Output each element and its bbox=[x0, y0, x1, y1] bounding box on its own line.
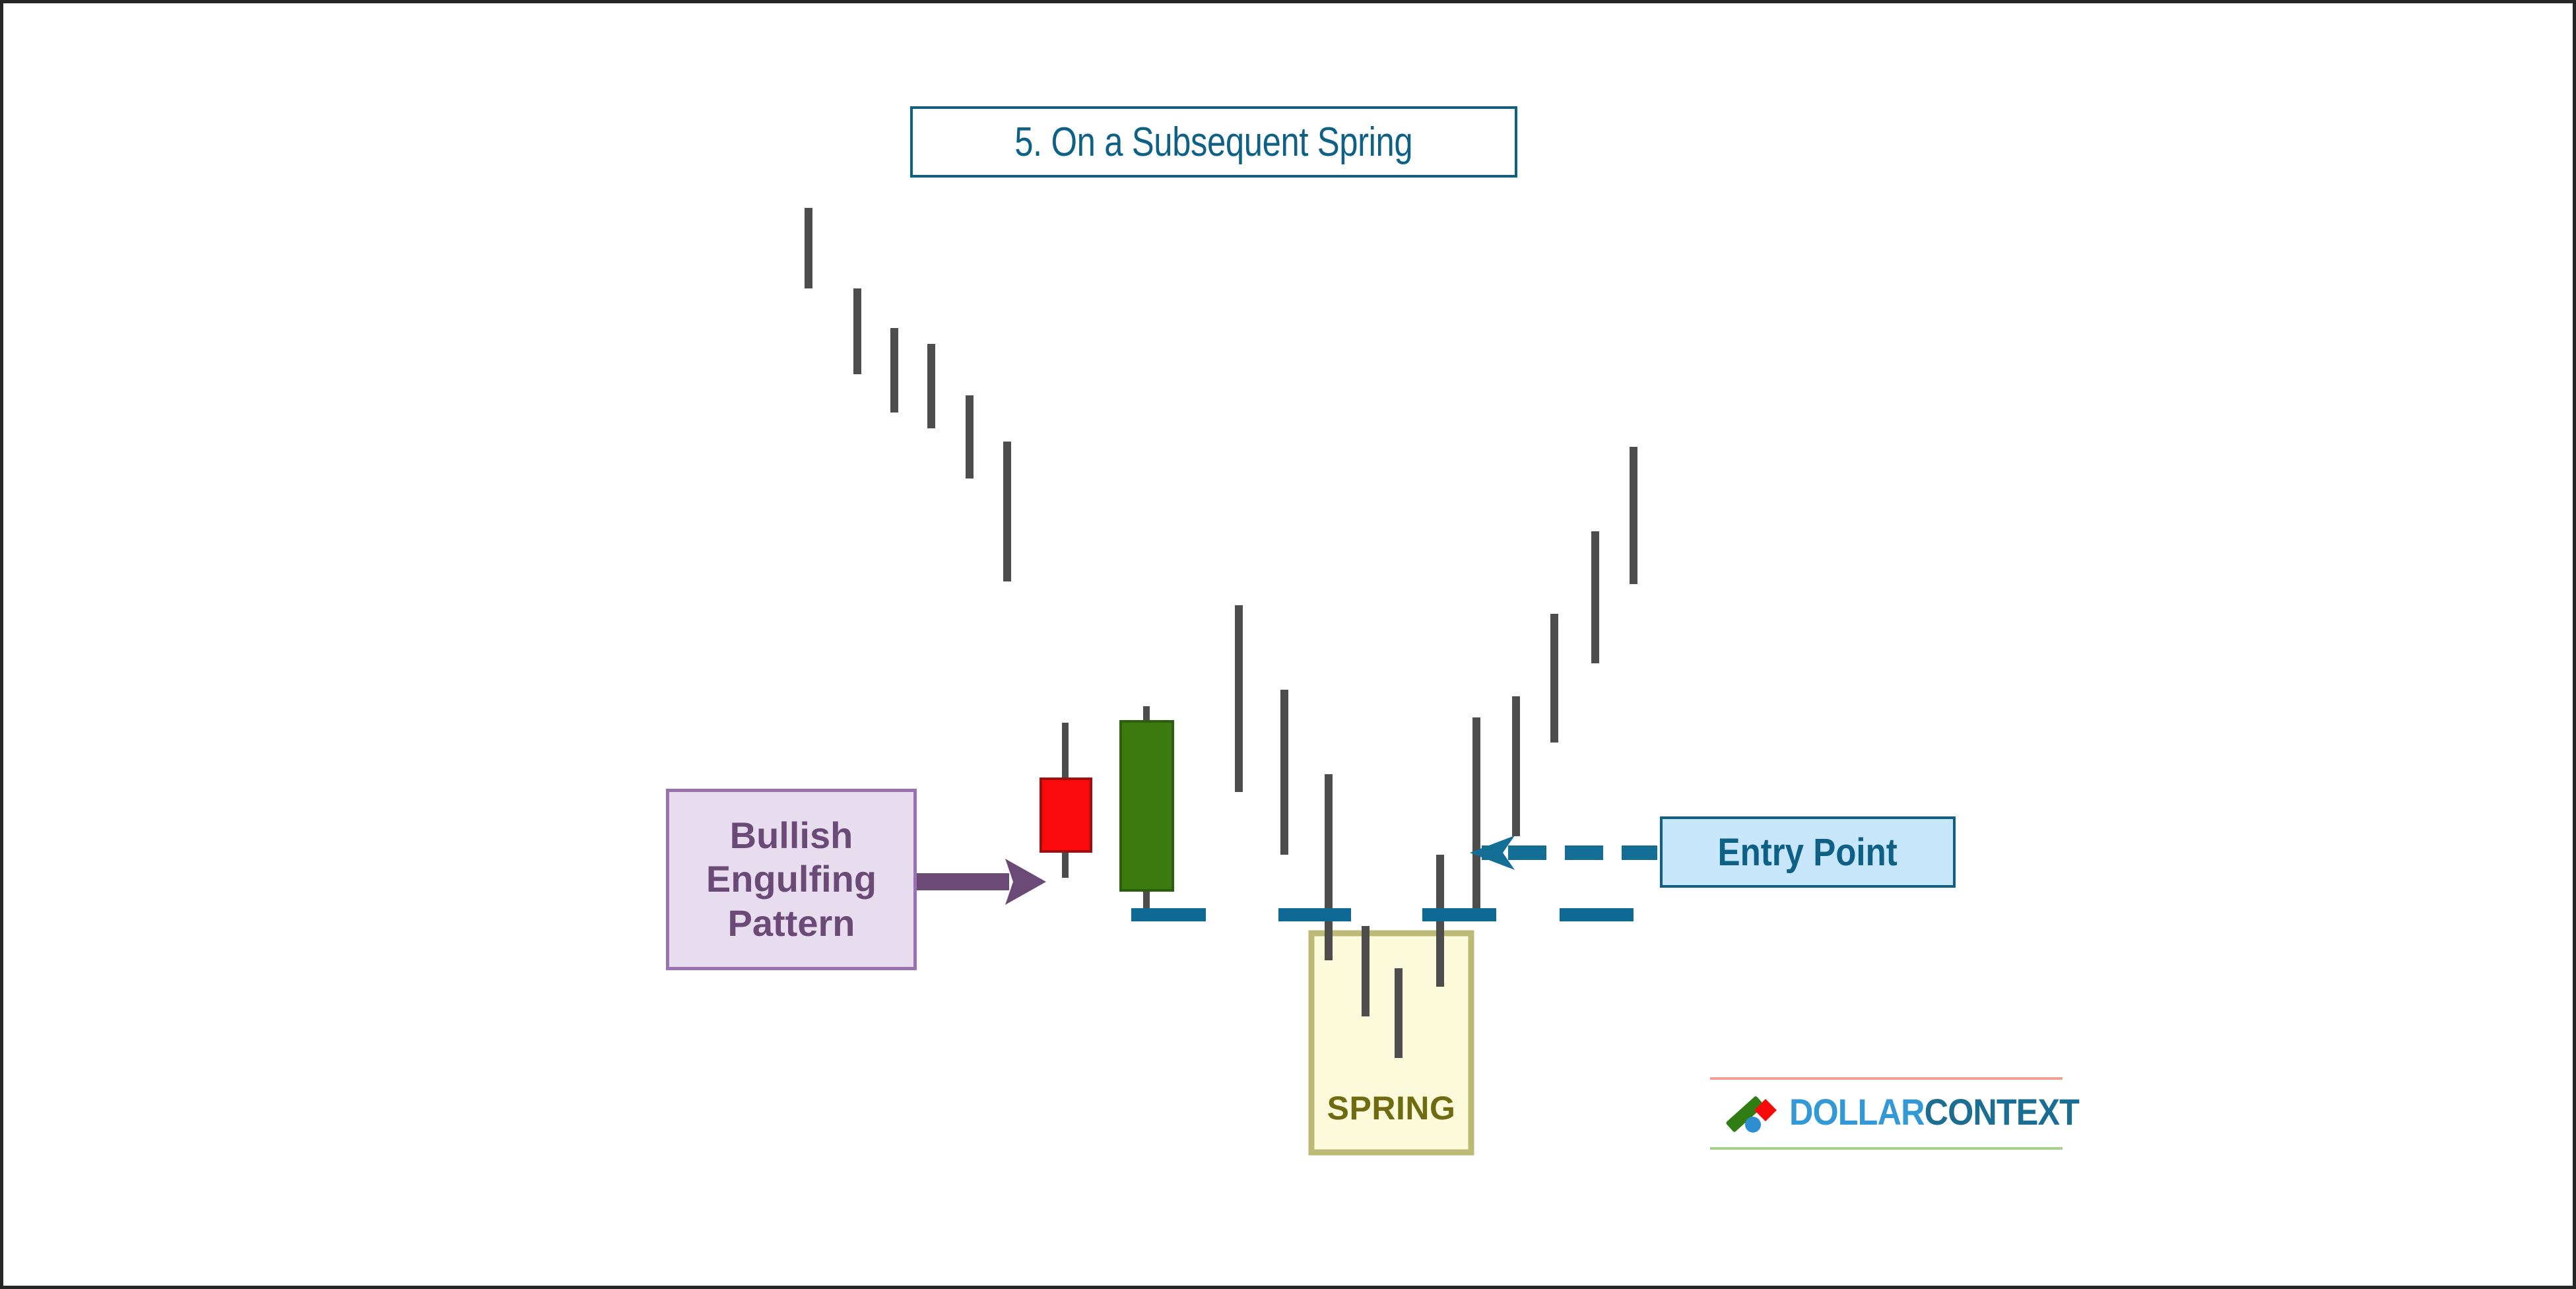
price-bar bbox=[1362, 926, 1370, 1016]
price-bar bbox=[1512, 696, 1520, 836]
support-segment bbox=[1278, 908, 1351, 921]
arrow-dash bbox=[1565, 845, 1603, 860]
arrow-dash bbox=[1622, 845, 1657, 860]
logo-word-dollar: DOLLAR bbox=[1789, 1091, 1925, 1133]
logo-word-context: CONTEXT bbox=[1925, 1091, 2080, 1133]
price-bar-entry bbox=[1472, 717, 1480, 915]
price-bar bbox=[1325, 774, 1333, 960]
bullish-engulfing-label-box: Bullish Engulfing Pattern bbox=[666, 789, 917, 970]
bullish-line-3: Pattern bbox=[706, 902, 876, 945]
price-bar bbox=[1550, 614, 1558, 743]
logo-rule-bottom bbox=[1710, 1147, 2063, 1150]
entry-point-label: Entry Point bbox=[1718, 830, 1898, 875]
support-segment bbox=[1422, 908, 1496, 921]
chart-title-box: 5. On a Subsequent Spring bbox=[910, 106, 1517, 178]
price-bar bbox=[1280, 690, 1288, 855]
logo-wordmark: DOLLARCONTEXT bbox=[1789, 1090, 2079, 1133]
spring-zone-label: SPRING bbox=[1322, 1089, 1461, 1127]
price-bar bbox=[805, 208, 812, 288]
chart-canvas: 5. On a Subsequent Spring Bullish Engulf… bbox=[0, 0, 2576, 1289]
price-bar bbox=[1591, 531, 1599, 663]
candle-body bbox=[1041, 779, 1091, 851]
candle-body bbox=[1121, 721, 1173, 890]
arrow-shaft bbox=[917, 873, 1009, 890]
price-bar bbox=[853, 288, 861, 374]
downtrend-bars bbox=[805, 208, 1011, 581]
arrow-head bbox=[1005, 859, 1046, 905]
dollarcontext-logo: DOLLARCONTEXT bbox=[1710, 1077, 2063, 1150]
price-bar bbox=[927, 344, 935, 428]
logo-rule-top bbox=[1710, 1077, 2063, 1080]
price-bar bbox=[966, 395, 974, 479]
bullish-engulfing-arrow bbox=[917, 859, 1046, 905]
support-segment bbox=[1131, 908, 1206, 921]
price-bar bbox=[1003, 442, 1011, 581]
bullish-line-2: Engulfing bbox=[706, 857, 876, 901]
price-bar bbox=[890, 328, 898, 413]
support-segment bbox=[1560, 908, 1634, 921]
logo-blue-dot bbox=[1745, 1117, 1761, 1133]
arrow-dash bbox=[1508, 845, 1546, 860]
candlestick-chart bbox=[3, 3, 2576, 1289]
support-line-segments bbox=[1131, 908, 1634, 921]
price-bar bbox=[1395, 968, 1403, 1058]
candle-bullish bbox=[1121, 706, 1173, 909]
logo-mark-icon bbox=[1722, 1092, 1780, 1135]
entry-point-arrow bbox=[1470, 836, 1657, 870]
page-title: 5. On a Subsequent Spring bbox=[1014, 119, 1412, 166]
price-bar bbox=[1235, 605, 1243, 792]
bullish-engulfing-label: Bullish Engulfing Pattern bbox=[706, 814, 876, 944]
bullish-line-1: Bullish bbox=[706, 814, 876, 857]
candle-bearish bbox=[1041, 723, 1091, 878]
price-bar bbox=[1630, 447, 1637, 584]
entry-point-label-box: Entry Point bbox=[1660, 816, 1956, 888]
